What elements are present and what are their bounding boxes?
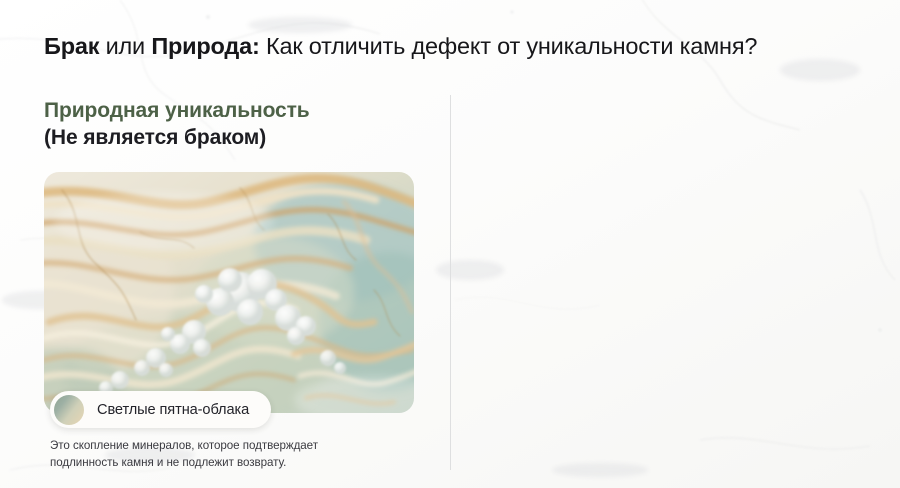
left-feature-badge[interactable]: Светлые пятна-облака [50, 391, 271, 428]
left-heading-line1: Природная уникальность [44, 98, 310, 125]
slide-canvas: Брак или Природа: Как отличить дефект от… [0, 0, 900, 488]
cloud-spot-dot-icon [54, 395, 84, 425]
left-badge-label: Светлые пятна-облака [97, 402, 249, 418]
left-heading: Природная уникальность (Не является брак… [44, 98, 310, 151]
left-caption: Это скопление минералов, которое подтвер… [50, 438, 318, 471]
left-stone-photo [44, 172, 414, 413]
left-column: Природная уникальность (Не является брак… [0, 0, 450, 488]
right-column: Производственный брак (Гарантийный случа… [450, 0, 900, 488]
left-heading-line2: (Не является браком) [44, 125, 310, 152]
